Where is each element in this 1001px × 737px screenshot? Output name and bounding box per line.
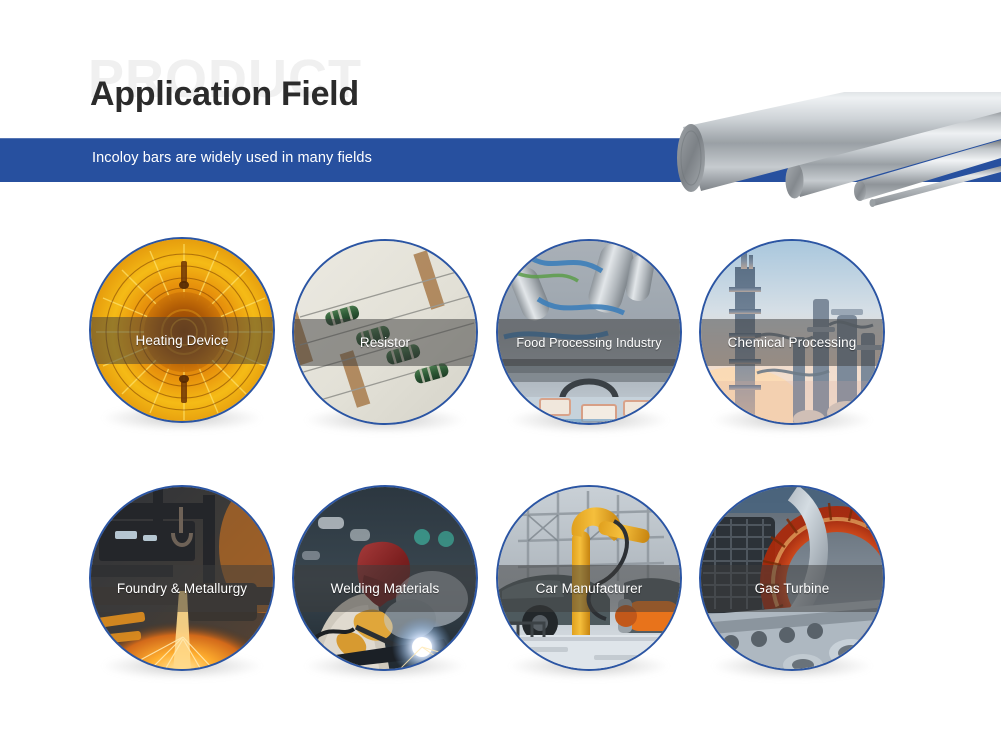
circle-label-band: Foundry & Metallurgy	[91, 565, 273, 612]
circle-frame: Resistor	[292, 239, 478, 425]
circle-frame: Foundry & Metallurgy	[89, 485, 275, 671]
circle-label-band: Resistor	[294, 319, 476, 366]
circle-label: Food Processing Industry	[514, 336, 663, 350]
circle-label-band: Car Manufacturer	[498, 565, 680, 612]
circle-label: Foundry & Metallurgy	[115, 581, 249, 596]
application-item-foundry-metallurgy[interactable]: Foundry & Metallurgy	[89, 485, 275, 671]
application-item-heating-device[interactable]: Heating Device	[89, 237, 275, 423]
application-item-food-processing-industry[interactable]: Food Processing Industry	[496, 239, 682, 425]
circle-frame: Food Processing Industry	[496, 239, 682, 425]
circle-frame: Heating Device	[89, 237, 275, 423]
circle-label: Resistor	[358, 335, 412, 350]
circle-label: Chemical Processing	[726, 335, 859, 350]
circle-label-band: Food Processing Industry	[498, 319, 680, 366]
circle-frame: Car Manufacturer	[496, 485, 682, 671]
application-item-resistor[interactable]: Resistor	[292, 239, 478, 425]
circle-label-band: Chemical Processing	[701, 319, 883, 366]
circle-label-band: Welding Materials	[294, 565, 476, 612]
application-item-car-manufacturer[interactable]: Car Manufacturer	[496, 485, 682, 671]
circle-frame: Welding Materials	[292, 485, 478, 671]
circle-label-band: Heating Device	[91, 317, 273, 364]
application-item-welding-materials[interactable]: Welding Materials	[292, 485, 478, 671]
circle-label: Heating Device	[134, 333, 231, 348]
circle-label-band: Gas Turbine	[701, 565, 883, 612]
circle-frame: Gas Turbine	[699, 485, 885, 671]
application-item-gas-turbine[interactable]: Gas Turbine	[699, 485, 885, 671]
application-circle-grid: Heating Device	[0, 0, 1001, 737]
circle-label: Welding Materials	[329, 581, 442, 596]
circle-label: Car Manufacturer	[534, 581, 645, 596]
circle-label: Gas Turbine	[753, 581, 832, 596]
slide-application-field: PRODUCT Application Field Incoloy bars a…	[0, 0, 1001, 737]
circle-frame: Chemical Processing	[699, 239, 885, 425]
application-item-chemical-processing[interactable]: Chemical Processing	[699, 239, 885, 425]
